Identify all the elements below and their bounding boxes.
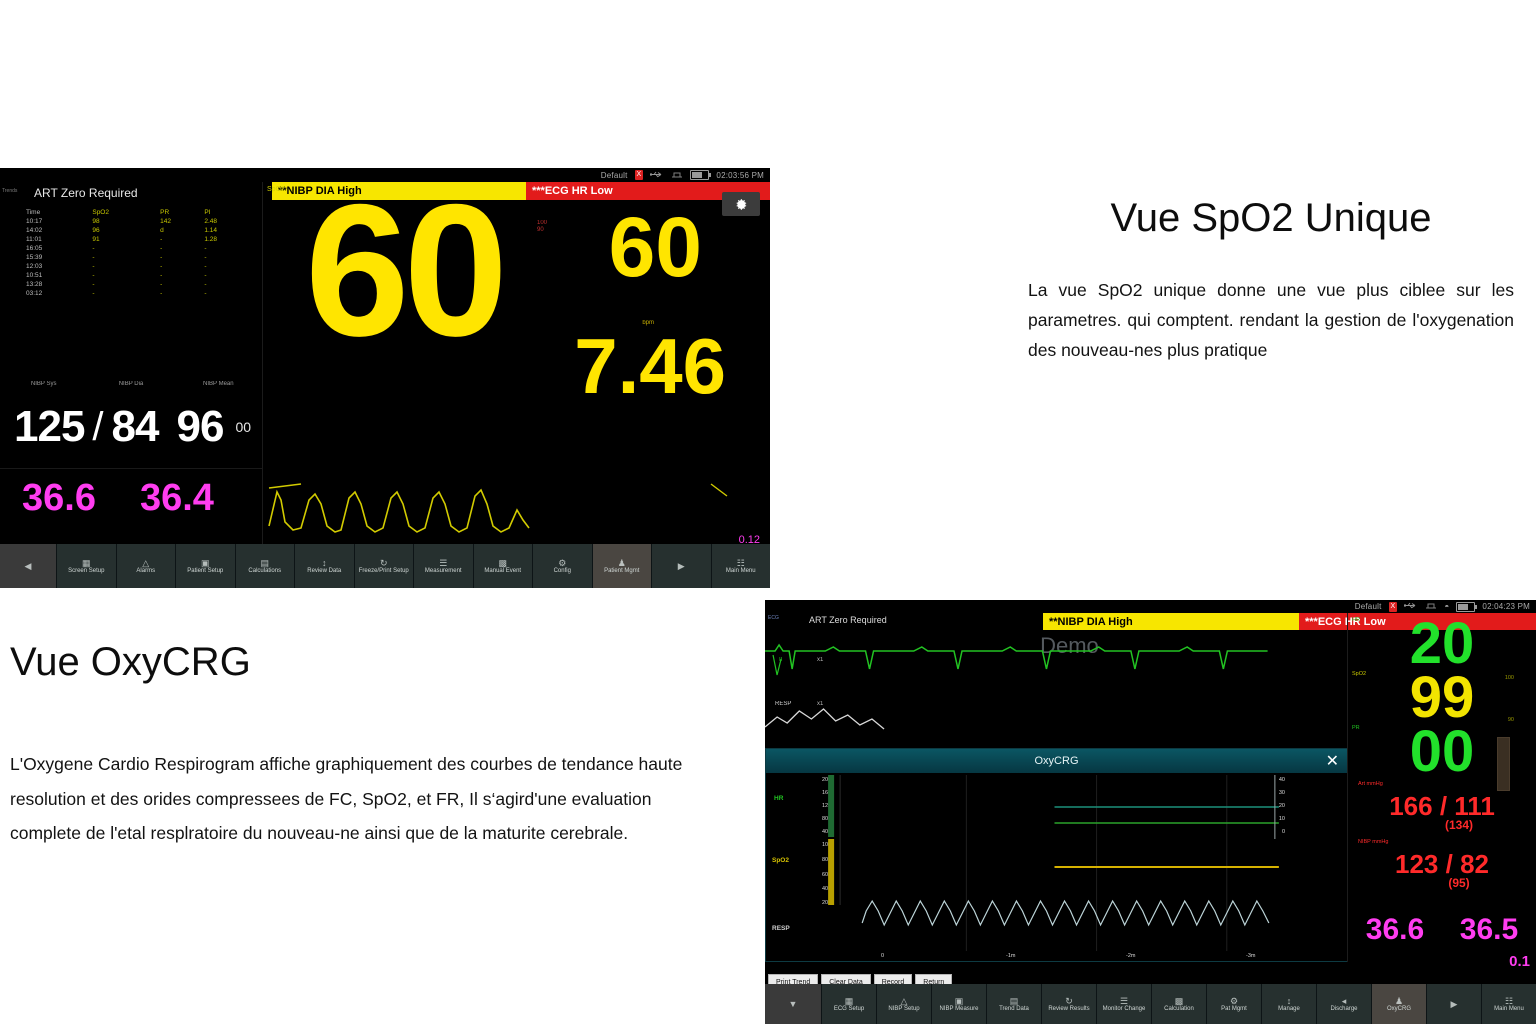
cell: 16:05 bbox=[26, 244, 92, 253]
menu-label: NIBP Setup bbox=[888, 1006, 919, 1013]
close-icon[interactable]: ✕ bbox=[1326, 751, 1339, 771]
alarm-icon: △ bbox=[142, 558, 149, 568]
menu-label: Discharge bbox=[1330, 1006, 1357, 1013]
cell: - bbox=[92, 289, 160, 298]
resp-waveform bbox=[765, 699, 1027, 741]
table-row: 14:0296d1.14 bbox=[26, 226, 256, 235]
art-diastolic: 111 bbox=[1454, 791, 1495, 821]
cell: 1.14 bbox=[204, 226, 256, 235]
menu-item-trend-data[interactable]: ▤Trend Data bbox=[987, 984, 1041, 1024]
menu-item-alarms[interactable]: △Alarms bbox=[117, 544, 176, 588]
menu-item-calculation[interactable]: ▩Calculation bbox=[1152, 984, 1206, 1024]
menu-item-measurement[interactable]: ☰Measurement bbox=[414, 544, 473, 588]
monitor1-left-panel: Trends ART Zero Required Time SpO2 PR PI… bbox=[0, 182, 263, 544]
temperature-row[interactable]: 36.6 36.5 bbox=[1348, 913, 1536, 947]
cell: - bbox=[160, 280, 204, 289]
rotate-icon: ↻ bbox=[1065, 996, 1073, 1006]
nibp-value-row[interactable]: 125 / 84 96 00 bbox=[0, 394, 262, 460]
menu-label: Screen Setup bbox=[68, 568, 104, 575]
monitor-spo2-view: Default X 02:03:56 PM **NIBP DIA High **… bbox=[0, 168, 770, 588]
menu-label: Review Data bbox=[307, 568, 341, 575]
nibp-separator: / bbox=[84, 405, 111, 450]
temp-value-1: 36.6 bbox=[1366, 913, 1424, 947]
arrow-icon: ◂ bbox=[1342, 996, 1347, 1006]
spo2-limit-high: 100 bbox=[1505, 675, 1514, 681]
cell: - bbox=[160, 289, 204, 298]
main-icon: ☷ bbox=[737, 558, 745, 568]
menu-label: ECG Setup bbox=[834, 1006, 864, 1013]
nibp-sys-label: NIBP Sys bbox=[0, 381, 87, 393]
cell: 11:01 bbox=[26, 235, 92, 244]
cell: - bbox=[204, 271, 256, 280]
menu-item-pat-mgmt[interactable]: ⚙Pat Mgmt bbox=[1207, 984, 1261, 1024]
patient-icon: ▣ bbox=[201, 558, 210, 568]
monitor2-wave-area: ECG ART Zero Required Demo II x1 RESP x1 bbox=[765, 613, 1348, 748]
menu-label: Manual Event bbox=[484, 568, 521, 575]
menu-label: Trend Data bbox=[999, 1006, 1029, 1013]
hr-value[interactable]: 20 bbox=[1348, 617, 1536, 671]
nibp-unit: 00 bbox=[235, 419, 251, 435]
table-header-row: Time SpO2 PR PI bbox=[26, 208, 256, 217]
spo2-text-section: Vue SpO2 Unique La vue SpO2 unique donne… bbox=[1028, 196, 1514, 383]
art-zero-banner: ART Zero Required bbox=[0, 182, 262, 204]
menu-label: Measurement bbox=[425, 568, 462, 575]
cell: 2.48 bbox=[204, 217, 256, 226]
spo2-section-title: Vue SpO2 Unique bbox=[1028, 196, 1514, 241]
menu-label: Calculations bbox=[248, 568, 281, 575]
oxycrg-graph-area: HR SpO2 RESP 200 160 120 80 40 100 80 60… bbox=[766, 773, 1347, 961]
menu-item-patient-setup[interactable]: ▣Patient Setup bbox=[176, 544, 235, 588]
menu-item-main-menu[interactable]: ☷Main Menu bbox=[1482, 984, 1536, 1024]
dialog-titlebar: OxyCRG ✕ bbox=[766, 749, 1347, 773]
menu-label: Monitor Change bbox=[1103, 1006, 1146, 1013]
spo2-alarm-limits: 100 90 bbox=[537, 220, 547, 234]
menu-item-nibp-setup[interactable]: △NIBP Setup bbox=[877, 984, 931, 1024]
spo2-limit-low: 90 bbox=[1508, 717, 1514, 723]
limit-low: 90 bbox=[537, 227, 547, 234]
cell: 98 bbox=[92, 217, 160, 226]
col-header: PI bbox=[204, 208, 256, 217]
table-row: 16:05--- bbox=[26, 244, 256, 253]
menu-label: Pat Mgmt bbox=[1221, 1006, 1247, 1013]
spo2-label: SpO2 bbox=[267, 186, 285, 193]
pi-value: 0.1 bbox=[1509, 953, 1530, 970]
menu-item-ecg-setup[interactable]: ▦ECG Setup bbox=[822, 984, 876, 1024]
clock-label: 02:04:23 PM bbox=[1482, 602, 1530, 611]
menu-label: Patient Mgmt bbox=[604, 568, 639, 575]
menu-label: Manage bbox=[1278, 1006, 1300, 1013]
monitor-oxycrg-view: Default X ◓ 02:04:23 PM **NIBP DIA High … bbox=[765, 600, 1536, 1024]
nibp-diastolic: 84 bbox=[112, 402, 159, 452]
cell: - bbox=[92, 262, 160, 271]
perfusion-index-value[interactable]: 7.46 bbox=[574, 330, 726, 402]
menu-label: Freeze/Print Setup bbox=[359, 568, 409, 575]
menu-item-oxycrg[interactable]: ♟OxyCRG bbox=[1372, 984, 1426, 1024]
cell: 96 bbox=[92, 226, 160, 235]
table-row: 12:03--- bbox=[26, 262, 256, 271]
gear-icon[interactable] bbox=[722, 192, 760, 216]
alarm-mute-icon[interactable]: X bbox=[635, 170, 644, 180]
menu-label: Main Menu bbox=[726, 568, 756, 575]
cell: 10:17 bbox=[26, 217, 92, 226]
measure-icon: ☰ bbox=[439, 558, 447, 568]
cell: - bbox=[92, 253, 160, 262]
cell: 1.28 bbox=[204, 235, 256, 244]
oxycrg-section-title: Vue OxyCRG bbox=[10, 640, 710, 685]
menu-item-main-menu[interactable]: ☷Main Menu bbox=[712, 544, 771, 588]
menu-label: Main Menu bbox=[1494, 1006, 1524, 1013]
cell: - bbox=[92, 244, 160, 253]
screen-icon: ▦ bbox=[845, 996, 854, 1006]
pleth-waveform bbox=[267, 470, 767, 540]
cell: - bbox=[204, 289, 256, 298]
nibp-systolic: 125 bbox=[0, 402, 84, 452]
menu-label: Alarms bbox=[136, 568, 155, 575]
table-row: 11:0191-1.28 bbox=[26, 235, 256, 244]
menu-label: NIBP Measure bbox=[940, 1006, 979, 1013]
oxycrg-dialog: OxyCRG ✕ HR SpO2 RESP 200 160 120 80 40 … bbox=[765, 748, 1348, 962]
nibp-separator: / bbox=[1446, 849, 1453, 879]
usb-icon bbox=[650, 170, 664, 181]
config-icon: ⚙ bbox=[558, 558, 566, 568]
pulse-rate-value[interactable]: 60 bbox=[609, 208, 702, 286]
temp-value-1: 36.6 bbox=[0, 477, 96, 520]
battery-icon bbox=[690, 170, 709, 180]
menu-label: OxyCRG bbox=[1387, 1006, 1411, 1013]
menu-item-config[interactable]: ⚙Config bbox=[533, 544, 592, 588]
cell: - bbox=[204, 262, 256, 271]
measure-icon: ☰ bbox=[1120, 996, 1128, 1006]
cell: - bbox=[204, 244, 256, 253]
monitor2-vitals-panel: HR 20 SpO2 99 100 90 PR 00 Art mmHg 166 … bbox=[1347, 613, 1536, 962]
menu-item-nibp-measure[interactable]: ▣NIBP Measure bbox=[932, 984, 986, 1024]
cell: 10:51 bbox=[26, 271, 92, 280]
review-icon: ▤ bbox=[260, 558, 269, 568]
menu-label: Config bbox=[554, 568, 571, 575]
monitor2-menubar: ▼ ▦ECG Setup △NIBP Setup ▣NIBP Measure ▤… bbox=[765, 984, 1536, 1024]
rotate-icon: ↻ bbox=[380, 558, 388, 568]
table-row: 03:12--- bbox=[26, 289, 256, 298]
dialog-title: OxyCRG bbox=[1035, 755, 1079, 767]
clock-label: 02:03:56 PM bbox=[716, 171, 764, 180]
menu-item-screen-setup[interactable]: ▦Screen Setup bbox=[57, 544, 116, 588]
wave-side-label: ECG bbox=[768, 615, 779, 621]
cell: 15:39 bbox=[26, 253, 92, 262]
profile-label: Default bbox=[1355, 602, 1382, 611]
monitor1-spo2-panel: SpO2 60 100 90 60 bpm 7.46 0.12 bbox=[263, 182, 770, 544]
trend-icon: ↕ bbox=[322, 558, 327, 568]
slide-root: Default X 02:03:56 PM **NIBP DIA High **… bbox=[0, 0, 1536, 1024]
alarm-mute-icon[interactable]: X bbox=[1389, 602, 1398, 612]
cell: 12:03 bbox=[26, 262, 92, 271]
ecg-waveform bbox=[765, 629, 1348, 687]
wifi-icon: ◓ bbox=[1444, 602, 1449, 611]
arrow-down-icon[interactable]: ▼ bbox=[765, 984, 821, 1024]
nibp-bp-value[interactable]: 123 / 82 (95) bbox=[1348, 849, 1536, 890]
spo2-section-body: La vue SpO2 unique donne une vue plus ci… bbox=[1028, 275, 1514, 365]
cell: - bbox=[160, 244, 204, 253]
art-systolic: 166 bbox=[1389, 791, 1432, 821]
menu-item-review-results[interactable]: ↻Review Results bbox=[1042, 984, 1096, 1024]
art-separator: / bbox=[1440, 791, 1447, 821]
cell: - bbox=[92, 280, 160, 289]
oxycrg-traces bbox=[766, 773, 1347, 961]
temp-value-2: 36.5 bbox=[1460, 913, 1518, 947]
cell: - bbox=[160, 253, 204, 262]
monitor1-menubar: ◀ ▦Screen Setup △Alarms ▣Patient Setup ▤… bbox=[0, 544, 770, 588]
limit-high: 100 bbox=[537, 220, 547, 227]
menu-item-manual-event[interactable]: ▩Manual Event bbox=[474, 544, 533, 588]
event-icon: ▩ bbox=[1175, 996, 1184, 1006]
network-icon bbox=[671, 170, 683, 181]
cell: - bbox=[160, 262, 204, 271]
patient-icon: ▣ bbox=[955, 996, 964, 1006]
cell: 14:02 bbox=[26, 226, 92, 235]
oxycrg-text-section: Vue OxyCRG L'Oxygene Cardio Respirogram … bbox=[10, 640, 710, 868]
event-icon: ▩ bbox=[498, 558, 507, 568]
battery-icon bbox=[1456, 602, 1475, 612]
profile-label: Default bbox=[601, 171, 628, 180]
play-icon[interactable]: ▶ bbox=[1427, 984, 1481, 1024]
main-icon: ☷ bbox=[1505, 996, 1513, 1006]
menu-label: Review Results bbox=[1048, 1006, 1089, 1013]
menu-item-patient-mgmt[interactable]: ♟Patient Mgmt bbox=[593, 544, 652, 588]
table-row: 10:51--- bbox=[26, 271, 256, 280]
temp-value-2: 36.4 bbox=[96, 477, 214, 520]
table-row: 13:28--- bbox=[26, 280, 256, 289]
config-icon: ⚙ bbox=[1230, 996, 1238, 1006]
cell: 13:28 bbox=[26, 280, 92, 289]
menu-item-freeze-print[interactable]: ↻Freeze/Print Setup bbox=[355, 544, 414, 588]
temperature-row[interactable]: 36.6 36.4 bbox=[0, 468, 262, 527]
nibp-systolic: 123 bbox=[1395, 849, 1438, 879]
arrow-right-icon[interactable]: ▶ bbox=[652, 544, 711, 588]
table-row: 10:17981422.48 bbox=[26, 217, 256, 226]
trend-table: Time SpO2 PR PI 10:17981422.48 14:0296d1… bbox=[26, 208, 256, 298]
menu-label: Calculation bbox=[1164, 1006, 1194, 1013]
nibp-label-row: NIBP Sys NIBP Dia NIBP Mean bbox=[0, 381, 262, 393]
user-icon: ♟ bbox=[1395, 996, 1403, 1006]
art-zero-banner: ART Zero Required bbox=[809, 615, 887, 625]
cell: 142 bbox=[160, 217, 204, 226]
art-label: Art mmHg bbox=[1358, 781, 1383, 787]
cell: - bbox=[204, 253, 256, 262]
spo2-bargraph bbox=[1497, 737, 1510, 791]
cell: 03:12 bbox=[26, 289, 92, 298]
cell: d bbox=[160, 226, 204, 235]
table-row: 15:39--- bbox=[26, 253, 256, 262]
user-icon: ♟ bbox=[618, 558, 626, 568]
col-header: PR bbox=[160, 208, 204, 217]
menu-item-discharge[interactable]: ◂Discharge bbox=[1317, 984, 1371, 1024]
nibp-dia-label: NIBP Dia bbox=[87, 381, 174, 393]
col-header: SpO2 bbox=[92, 208, 160, 217]
cell: 91 bbox=[92, 235, 160, 244]
menu-item-manage[interactable]: ↕Manage bbox=[1262, 984, 1316, 1024]
trend-icon: ↕ bbox=[1287, 996, 1292, 1006]
menu-item-review-data[interactable]: ↕Review Data bbox=[295, 544, 354, 588]
arrow-left-icon[interactable]: ◀ bbox=[0, 544, 56, 588]
nibp-map: 96 bbox=[159, 402, 224, 452]
review-icon: ▤ bbox=[1010, 996, 1019, 1006]
nibp-map-label: NIBP Mean bbox=[175, 381, 262, 393]
cell: - bbox=[160, 271, 204, 280]
cell: - bbox=[160, 235, 204, 244]
art-bp-value[interactable]: 166 / 111 (134) bbox=[1348, 791, 1536, 832]
menu-item-calculations[interactable]: ▤Calculations bbox=[236, 544, 295, 588]
nibp-label: NIBP mmHg bbox=[1358, 839, 1388, 845]
screen-icon: ▦ bbox=[82, 558, 91, 568]
alarm-icon: △ bbox=[901, 996, 908, 1006]
cell: - bbox=[204, 280, 256, 289]
nibp-diastolic: 82 bbox=[1460, 849, 1489, 879]
oxycrg-section-body: L'Oxygene Cardio Respirogram affiche gra… bbox=[10, 747, 710, 851]
menu-item-monitor-change[interactable]: ☰Monitor Change bbox=[1097, 984, 1151, 1024]
cell: - bbox=[92, 271, 160, 280]
col-header: Time bbox=[26, 208, 92, 217]
spo2-value[interactable]: 60 bbox=[305, 184, 502, 356]
menu-label: Patient Setup bbox=[187, 568, 223, 575]
